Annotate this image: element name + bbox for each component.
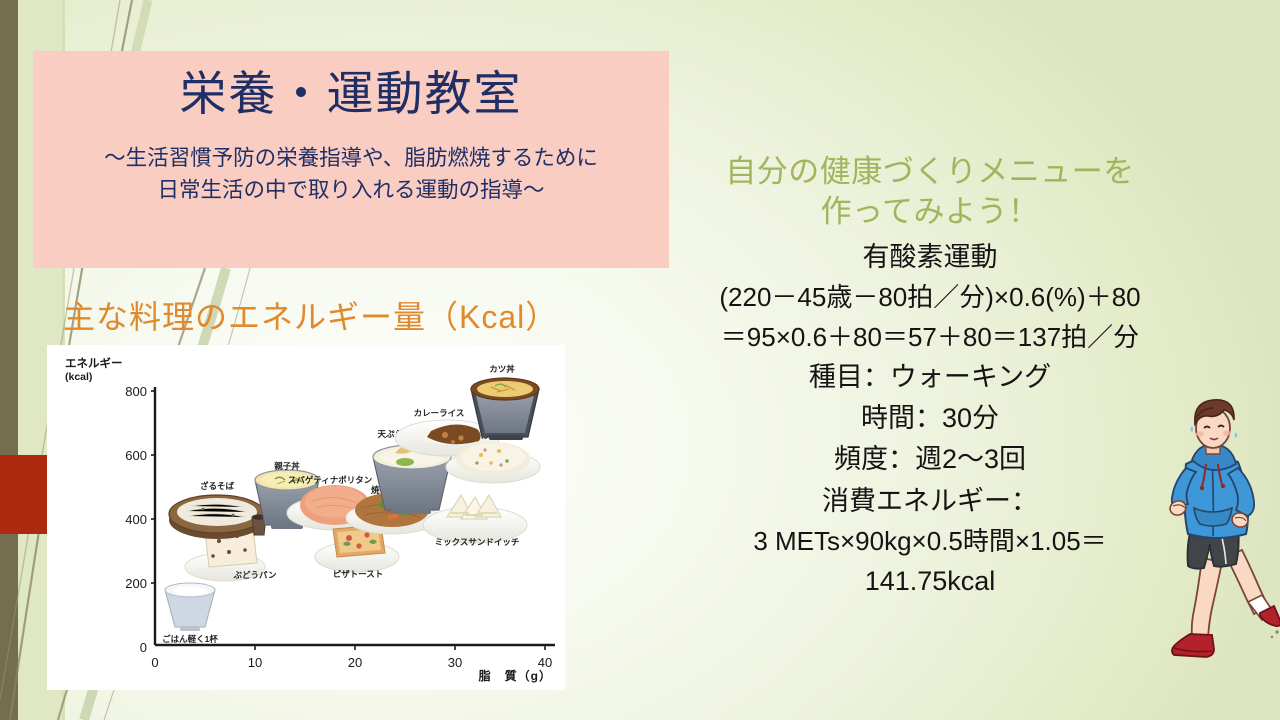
svg-text:カツ丼: カツ丼 — [489, 364, 515, 374]
svg-text:ごはん軽く1杯: ごはん軽く1杯 — [162, 634, 218, 644]
menu-line-1: (220－45歳－80拍／分)×0.6(%)＋80 — [648, 278, 1212, 318]
page-title: 栄養・運動教室 — [180, 65, 523, 124]
y-axis-title: エネルギー — [65, 356, 123, 370]
svg-text:スパゲティナポリタン: スパゲティナポリタン — [288, 475, 373, 485]
menu-line-5: 頻度：週2〜3回 — [648, 439, 1212, 480]
datapoint-soba-plate: ざるそば — [169, 481, 266, 539]
svg-text:ぶどうパン: ぶどうパン — [233, 570, 277, 580]
menu-line-6: 消費エネルギー： — [648, 481, 1212, 522]
svg-text:ミックスサンドイッチ: ミックスサンドイッチ — [435, 537, 520, 547]
svg-text:カレーライス: カレーライス — [414, 408, 465, 418]
right-heading-line-2: 作ってみよう！ — [648, 192, 1212, 232]
svg-text:30: 30 — [448, 655, 462, 670]
menu-line-3: 種目：ウォーキング — [648, 357, 1212, 398]
datapoint-rice-bowl: ごはん軽く1杯 — [162, 583, 218, 644]
svg-text:0: 0 — [140, 640, 147, 655]
jogging-man-icon — [1148, 396, 1280, 672]
x-axis-title: 脂 質（g） — [478, 668, 552, 683]
accent-red-block — [0, 455, 48, 534]
energy-scatter-chart: 800 600 400 200 0 エネルギー (kcal) 脂 質（g） 0 … — [47, 345, 565, 690]
page-subtitle: 〜生活習慣予防の栄養指導や、脂肪燃焼するために 日常生活の中で取り入れる運動の指… — [104, 142, 598, 207]
svg-text:10: 10 — [248, 655, 262, 670]
menu-line-4: 時間：30分 — [648, 398, 1212, 439]
menu-line-2: ＝95×0.6＋80＝57＋80＝137拍／分 — [648, 318, 1212, 358]
svg-text:20: 20 — [348, 655, 362, 670]
svg-text:0: 0 — [151, 655, 158, 670]
svg-text:200: 200 — [125, 576, 147, 591]
left-dark-band — [0, 0, 18, 720]
svg-text:ピザトースト: ピザトースト — [333, 569, 384, 579]
svg-text:ざるそば: ざるそば — [200, 481, 235, 491]
svg-text:40: 40 — [538, 655, 552, 670]
y-tick-labels: 800 600 400 200 0 — [125, 384, 147, 655]
subtitle-line-1: 〜生活習慣予防の栄養指導や、脂肪燃焼するために — [104, 146, 598, 170]
datapoint-katsudon-bowl: カツ丼 — [471, 364, 539, 440]
svg-text:親子丼: 親子丼 — [274, 461, 300, 471]
x-tick-labels: 0 10 20 30 40 — [151, 655, 552, 670]
svg-text:800: 800 — [125, 384, 147, 399]
y-axis-unit: (kcal) — [65, 371, 92, 383]
menu-line-0: 有酸素運動 — [648, 237, 1212, 278]
subtitle-line-2: 日常生活の中で取り入れる運動の指導〜 — [104, 174, 598, 206]
chart-heading: 主な料理のエネルギー量（Kcal） — [63, 292, 558, 338]
title-box: 栄養・運動教室 〜生活習慣予防の栄養指導や、脂肪燃焼するために 日常生活の中で取… — [33, 51, 669, 268]
exercise-menu-column: 自分の健康づくりメニューを 作ってみよう！ 有酸素運動 (220－45歳－80拍… — [648, 152, 1212, 602]
svg-text:400: 400 — [125, 512, 147, 527]
right-heading-line-1: 自分の健康づくりメニューを — [725, 154, 1135, 189]
menu-line-8: 141.75kcal — [648, 561, 1212, 602]
menu-line-7: 3 METs×90kg×0.5時間×1.05＝ — [648, 522, 1212, 562]
slide-canvas: 栄養・運動教室 〜生活習慣予防の栄養指導や、脂肪燃焼するために 日常生活の中で取… — [0, 0, 1280, 720]
right-column-heading: 自分の健康づくりメニューを 作ってみよう！ — [648, 152, 1212, 231]
energy-chart-panel: 800 600 400 200 0 エネルギー (kcal) 脂 質（g） 0 … — [47, 345, 565, 690]
svg-text:600: 600 — [125, 448, 147, 463]
